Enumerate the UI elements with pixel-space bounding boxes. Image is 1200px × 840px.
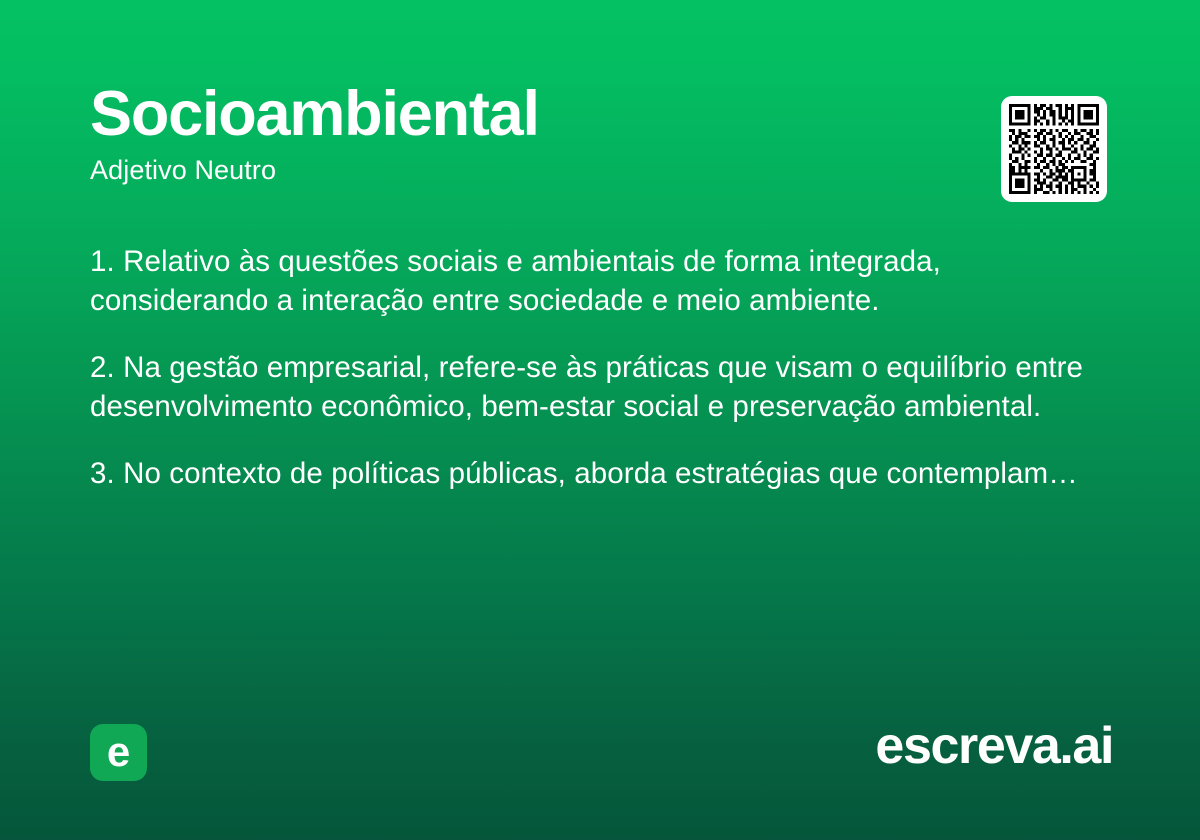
- brand-logo-mark: e: [90, 724, 147, 781]
- definitions-list: 1. Relativo às questões sociais e ambien…: [90, 243, 1100, 494]
- definition-item: 2. Na gestão empresarial, refere-se às p…: [90, 349, 1100, 427]
- definition-item: 3. No contexto de políticas públicas, ab…: [90, 455, 1100, 494]
- qr-code-card[interactable]: [1001, 96, 1107, 202]
- page-title: Socioambiental: [90, 82, 1110, 146]
- word-class-subtitle: Adjetivo Neutro: [90, 156, 1110, 186]
- brand-wordmark: escreva.ai: [875, 718, 1113, 775]
- definition-card: Socioambiental Adjetivo Neutro: [0, 0, 1200, 840]
- definition-item: 1. Relativo às questões sociais e ambien…: [90, 243, 1100, 321]
- qr-code-icon: [1009, 104, 1099, 194]
- card-header: Socioambiental Adjetivo Neutro: [90, 82, 1110, 186]
- logo-letter-e: e: [90, 731, 147, 773]
